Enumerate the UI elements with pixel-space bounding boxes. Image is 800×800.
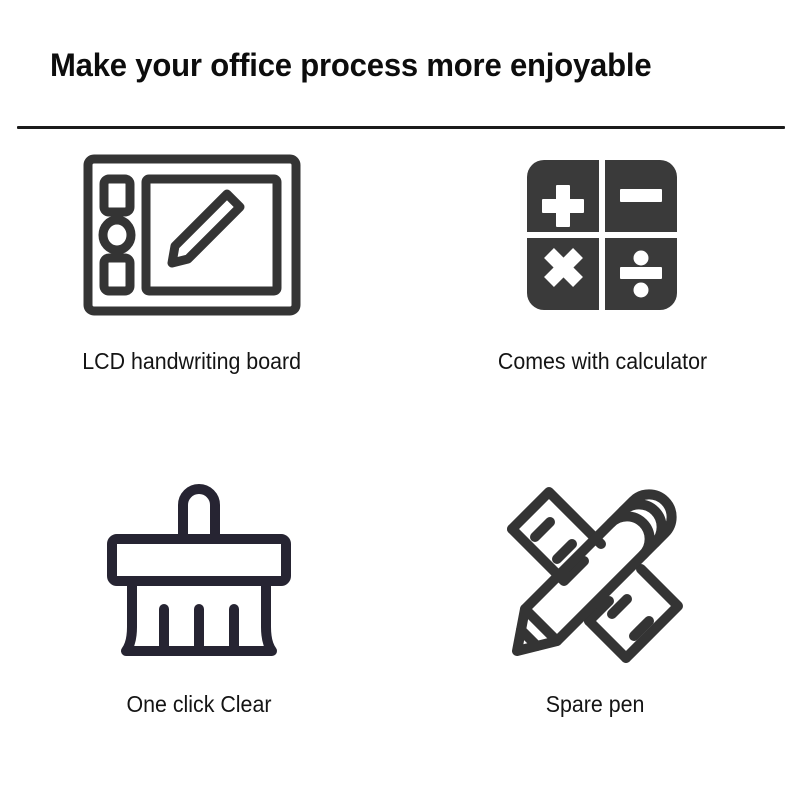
feature-label: LCD handwriting board <box>83 348 302 375</box>
header: Make your office process more enjoyable <box>0 0 800 83</box>
tablet-stylus-icon <box>83 154 301 316</box>
feature-label: Spare pen <box>546 691 645 718</box>
calculator-keys-icon <box>526 159 678 311</box>
feature-item-one-click-clear[interactable]: One click Clear <box>0 464 399 780</box>
feature-item-spare-pen[interactable]: Spare pen <box>395 464 795 780</box>
page-title: Make your office process more enjoyable <box>50 48 758 83</box>
icon-container <box>495 486 695 661</box>
cleaning-brush-icon <box>106 487 292 659</box>
icon-container <box>92 147 292 322</box>
pencil-ruler-icon <box>505 485 685 661</box>
icon-container <box>99 486 299 661</box>
feature-grid: LCD handwriting board <box>0 129 800 800</box>
feature-item-calculator[interactable]: Comes with calculator <box>402 147 800 463</box>
feature-item-lcd-handwriting-board[interactable]: LCD handwriting board <box>0 147 392 463</box>
icon-container <box>502 147 702 322</box>
feature-label: One click Clear <box>126 691 271 718</box>
feature-panel: Make your office process more enjoyable <box>0 0 800 800</box>
feature-label: Comes with calculator <box>497 348 706 375</box>
